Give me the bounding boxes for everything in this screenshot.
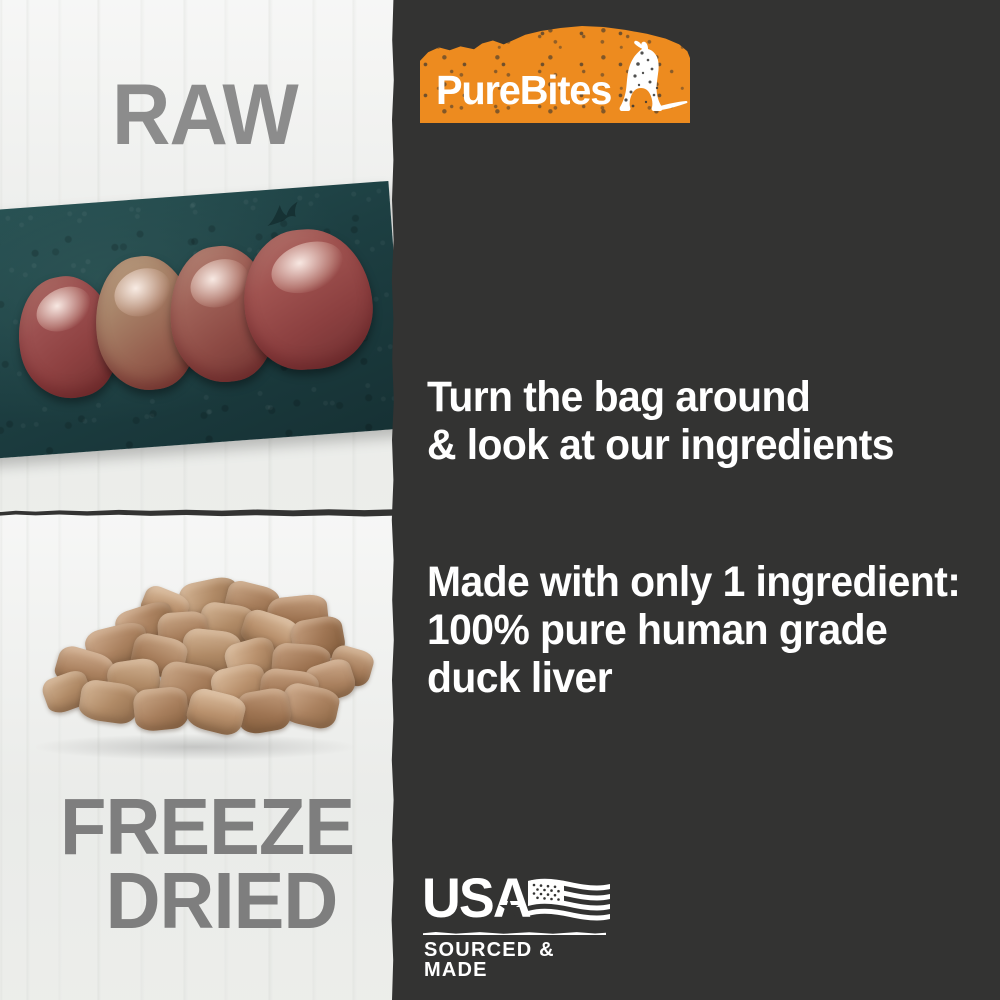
purebites-logo[interactable]: PureBites	[420, 26, 690, 123]
headline-turn-the-bag: Turn the bag around & look at our ingred…	[427, 373, 894, 469]
product-infographic: RAW FREEZE DRIED PureBites	[0, 0, 1000, 1000]
right-message-column: PureBites Turn the bag around & look at …	[396, 0, 1000, 1000]
left-comparison-column: RAW FREEZE DRIED	[0, 0, 396, 1000]
usa-sourced-made-badge: USA SOURCED & MADE	[422, 872, 612, 960]
headline-one-ingredient: Made with only 1 ingredient: 100% pure h…	[427, 558, 960, 702]
freeze-dried-chunk	[132, 685, 190, 732]
usa-title: USA	[422, 870, 530, 926]
usa-tagline: SOURCED & MADE	[424, 940, 612, 980]
sitting-dog-silhouette-icon	[602, 40, 688, 122]
raw-liver-group	[8, 222, 391, 430]
freeze-dried-label-line2: DRIED	[60, 864, 354, 938]
freeze-dried-label: FREEZE DRIED	[60, 790, 354, 937]
freeze-dried-label-line1: FREEZE	[60, 790, 354, 864]
waving-us-flag-icon	[528, 878, 610, 924]
freeze-dried-pile	[30, 578, 360, 754]
raw-label: RAW	[112, 72, 298, 158]
badge-divider-rule	[423, 932, 606, 935]
logo-wordmark: PureBites	[436, 70, 611, 111]
